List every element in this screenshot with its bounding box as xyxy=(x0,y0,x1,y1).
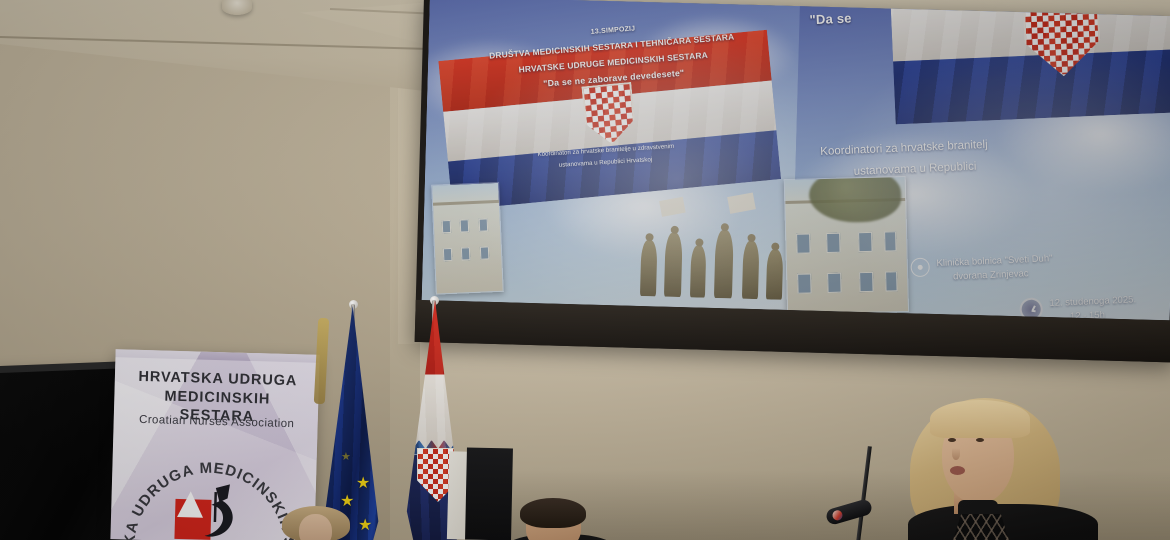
building-window xyxy=(884,231,897,251)
tree-shape xyxy=(808,176,901,223)
veteran-figure xyxy=(640,240,658,296)
veteran-figure xyxy=(664,233,683,297)
building-window xyxy=(442,220,452,233)
nurses-association-logo: HRVATSKA UDRUGA MEDICINSKIH SESTARA xyxy=(115,445,305,540)
hair-bangs xyxy=(930,400,1030,438)
building-window xyxy=(826,232,841,252)
slide-right-copy: "Da se Koordinatori za hrvatske branitel… xyxy=(792,6,1170,320)
building-roofline xyxy=(433,200,499,206)
hospital-building-image xyxy=(785,177,908,314)
building-window xyxy=(885,271,898,291)
building-window xyxy=(460,219,470,232)
veteran-figure xyxy=(742,241,760,299)
figure-head xyxy=(771,242,779,250)
slide-hospital-photo-large xyxy=(784,176,909,315)
veteran-figure xyxy=(690,245,706,297)
hair xyxy=(520,498,586,528)
conference-photo: 13.SIMPOZIJ DRUŠTVA MEDICINSKIH SESTARA … xyxy=(0,0,1170,540)
held-flag xyxy=(659,197,686,217)
building-window xyxy=(461,247,471,260)
figure-head xyxy=(695,238,703,246)
building-window xyxy=(796,233,811,253)
head xyxy=(299,514,332,540)
building-window xyxy=(858,231,873,251)
man-seated-center xyxy=(506,498,614,540)
hospital-building-image xyxy=(432,183,503,294)
woman-speaker-right xyxy=(900,392,1130,540)
figure-head xyxy=(645,233,653,241)
slide-left-copy: 13.SIMPOZIJ DRUŠTVA MEDICINSKIH SESTARA … xyxy=(422,0,800,310)
location-pin-icon xyxy=(910,257,930,277)
screen-surface: 13.SIMPOZIJ DRUŠTVA MEDICINSKIH SESTARA … xyxy=(422,0,1170,320)
eye xyxy=(948,438,956,442)
nose xyxy=(952,448,960,460)
building-window xyxy=(827,272,842,292)
eye xyxy=(976,438,984,442)
mouth xyxy=(950,466,965,475)
logo-emblem xyxy=(170,477,254,540)
figure-head xyxy=(670,226,678,234)
building-window xyxy=(797,273,812,293)
woman-seated-left xyxy=(282,506,350,540)
slide-veterans-photo xyxy=(634,184,793,300)
building-window xyxy=(480,246,490,259)
flag-fold-shading xyxy=(888,0,1170,124)
logo-swan-icon xyxy=(170,477,254,540)
projection-screen: 13.SIMPOZIJ DRUŠTVA MEDICINSKIH SESTARA … xyxy=(415,0,1170,362)
building-window xyxy=(479,218,489,231)
veteran-figure xyxy=(766,249,783,299)
slide-hospital-photo xyxy=(431,182,504,295)
microphone-windscreen xyxy=(831,509,843,521)
figure-head xyxy=(721,223,729,231)
croatian-flag-graphic-large xyxy=(888,0,1170,124)
building-window xyxy=(859,272,874,292)
held-flag xyxy=(727,192,756,213)
smoke-detector-icon xyxy=(222,0,252,15)
figure-head xyxy=(747,234,755,242)
building-window xyxy=(443,248,453,261)
veteran-figure xyxy=(714,230,734,298)
